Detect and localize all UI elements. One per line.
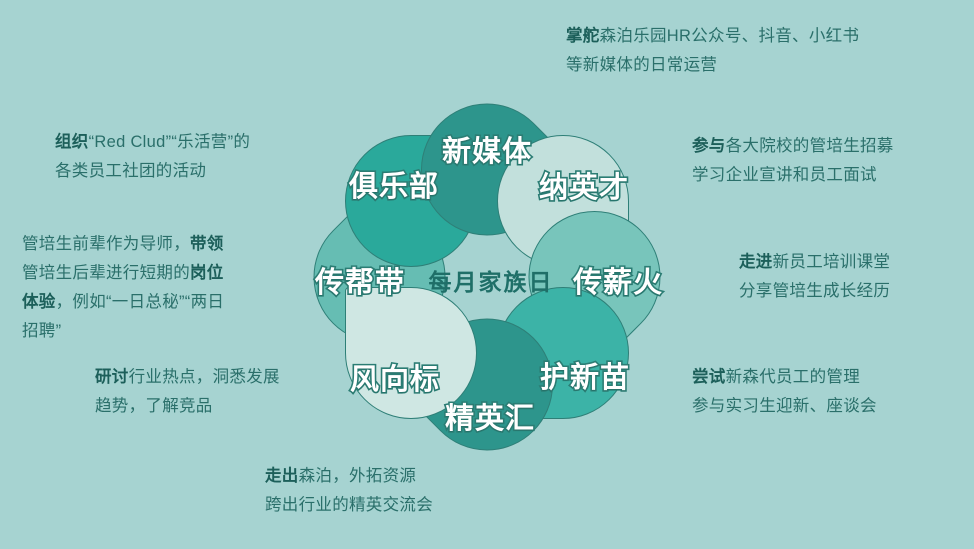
petal-label-huxinmiao: 护新苗 (540, 354, 630, 396)
petal-label-julebu: 俱乐部 (349, 163, 439, 205)
note-elite-gathering: 走出森泊，外拓资源跨出行业的精英交流会 (265, 462, 433, 520)
petal-label-chuanxinhuo: 传薪火 (573, 259, 663, 301)
note-mentorship: 管培生前辈作为导师，带领管培生后辈进行短期的岗位体验，例如“一日总秘”“两日招聘… (22, 230, 224, 346)
petal-shape-fengxiangbiao[interactable] (497, 287, 629, 419)
note-weathervane: 研讨行业热点，洞悉发展趋势，了解竞品 (95, 363, 280, 421)
petal-shape-chuanbangdai[interactable] (394, 291, 581, 478)
petal-flower-diagram: 新媒体 纳英才 传薪火 护新苗 精英汇 风向标 传帮带 俱乐部 每月家族日 (287, 72, 687, 482)
note-new-media: 掌舵森泊乐园HR公众号、抖音、小红书等新媒体的日常运营 (566, 22, 859, 80)
note-recruit-talent: 参与各大院校的管培生招募学习企业宣讲和员工面试 (692, 132, 894, 190)
center-label: 每月家族日 (429, 263, 554, 297)
infographic-canvas: 新媒体 纳英才 传薪火 护新苗 精英汇 风向标 传帮带 俱乐部 每月家族日 掌舵… (0, 0, 974, 549)
petal-label-jingyinghui: 精英汇 (445, 395, 535, 437)
petal-label-nayingcai: 纳英才 (539, 164, 629, 206)
petal-shape-julebu[interactable] (345, 287, 477, 419)
petal-label-xinmeiti: 新媒体 (442, 128, 532, 170)
petal-label-chuanbangdai: 传帮带 (315, 259, 405, 301)
note-club: 组织“Red Clud”“乐活营”的各类员工社团的活动 (55, 128, 250, 186)
note-pass-torch: 走进新员工培训课堂分享管培生成长经历 (739, 248, 890, 306)
note-nurture-sprouts: 尝试新森代员工的管理参与实习生迎新、座谈会 (692, 363, 877, 421)
petal-shape-nayingcai[interactable] (345, 135, 477, 267)
petal-shape-huxinmiao[interactable] (497, 135, 629, 267)
petal-label-fengxiangbiao: 风向标 (350, 356, 440, 398)
petal-shape-chuanxinhuo[interactable] (394, 76, 581, 263)
